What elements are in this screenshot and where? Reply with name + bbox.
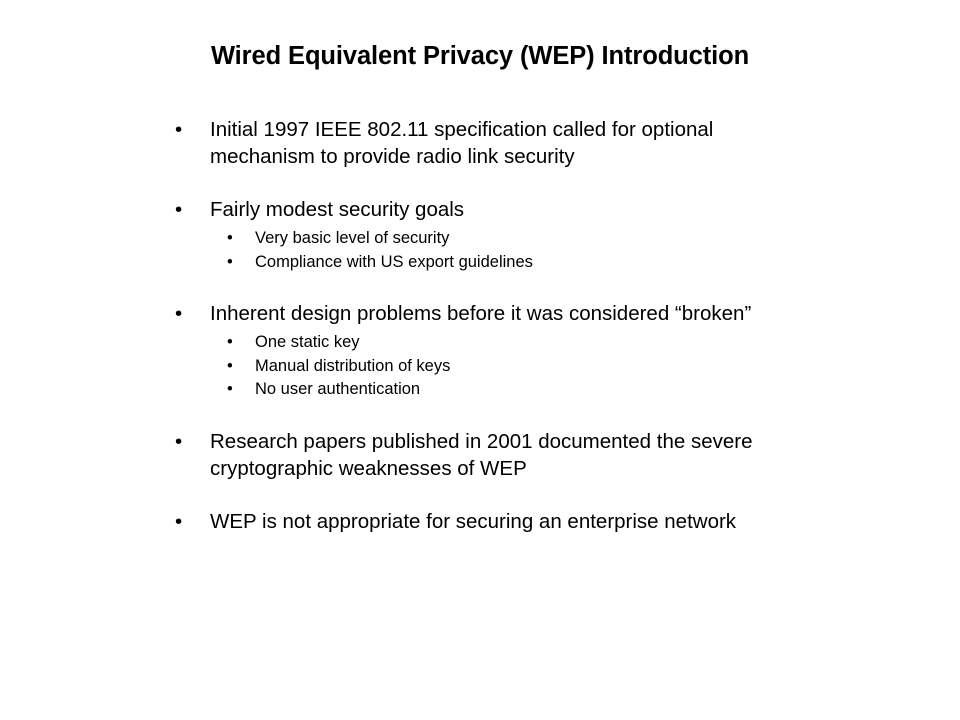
bullet-level2-text: Manual distribution of keys: [255, 357, 450, 375]
slide-body: • Initial 1997 IEEE 802.11 specification…: [172, 116, 792, 539]
bullet-dot-icon: •: [227, 355, 233, 379]
bullet-level2: • Compliance with US export guidelines: [172, 251, 792, 275]
bullet-group: • Inherent design problems before it was…: [172, 300, 792, 402]
bullet-level1: • WEP is not appropriate for securing an…: [172, 508, 782, 535]
bullet-sublist: • One static key • Manual distribution o…: [172, 331, 792, 402]
bullet-level2: • No user authentication: [172, 378, 792, 402]
bullet-level2-text: One static key: [255, 333, 360, 351]
bullet-dot-icon: •: [227, 227, 233, 251]
bullet-level2-text: Very basic level of security: [255, 229, 449, 247]
bullet-level1: • Inherent design problems before it was…: [172, 300, 782, 327]
bullet-level1: • Research papers published in 2001 docu…: [172, 428, 782, 482]
bullet-dot-icon: •: [227, 251, 233, 275]
bullet-level1-text: Initial 1997 IEEE 802.11 specification c…: [210, 118, 713, 168]
bullet-dot-icon: •: [175, 116, 182, 143]
bullet-level1: • Initial 1997 IEEE 802.11 specification…: [172, 116, 782, 170]
bullet-group: • Research papers published in 2001 docu…: [172, 428, 792, 482]
bullet-group: • Initial 1997 IEEE 802.11 specification…: [172, 116, 792, 170]
bullet-level2-text: No user authentication: [255, 380, 420, 398]
bullet-level1-text: Fairly modest security goals: [210, 198, 464, 221]
bullet-dot-icon: •: [175, 196, 182, 223]
bullet-level1: • Fairly modest security goals: [172, 196, 782, 223]
bullet-group: • WEP is not appropriate for securing an…: [172, 508, 792, 535]
bullet-group: • Fairly modest security goals • Very ba…: [172, 196, 792, 274]
bullet-level1-text: Research papers published in 2001 docume…: [210, 430, 752, 480]
presentation-slide: Wired Equivalent Privacy (WEP) Introduct…: [0, 0, 960, 720]
bullet-dot-icon: •: [227, 331, 233, 355]
bullet-level2: • Very basic level of security: [172, 227, 792, 251]
bullet-level2: • Manual distribution of keys: [172, 355, 792, 379]
bullet-level1-text: Inherent design problems before it was c…: [210, 302, 751, 325]
bullet-level1-text: WEP is not appropriate for securing an e…: [210, 510, 736, 533]
bullet-dot-icon: •: [175, 508, 182, 535]
bullet-level2-text: Compliance with US export guidelines: [255, 253, 533, 271]
bullet-sublist: • Very basic level of security • Complia…: [172, 227, 792, 274]
slide-title: Wired Equivalent Privacy (WEP) Introduct…: [0, 41, 960, 71]
bullet-dot-icon: •: [175, 428, 182, 455]
bullet-dot-icon: •: [227, 378, 233, 402]
bullet-level2: • One static key: [172, 331, 792, 355]
bullet-dot-icon: •: [175, 300, 182, 327]
